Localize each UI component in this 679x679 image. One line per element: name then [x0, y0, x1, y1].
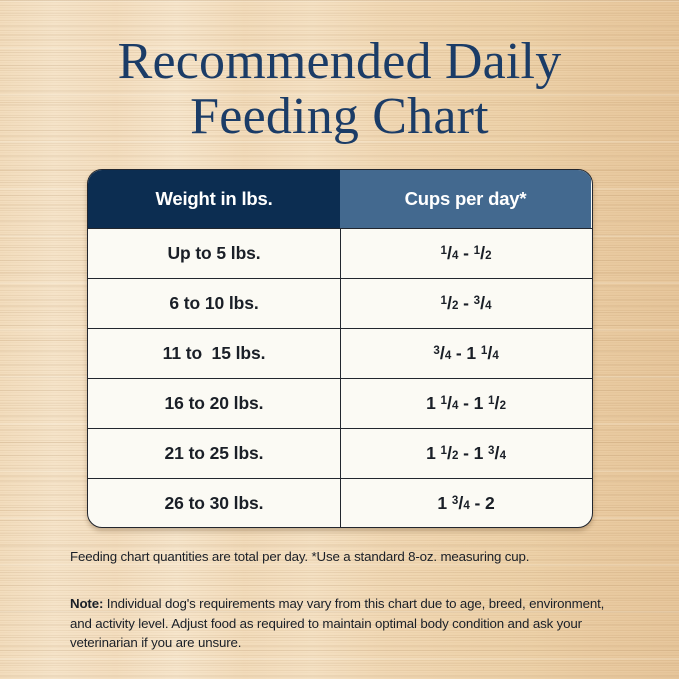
table-row: 21 to 25 lbs.1 1/2 - 1 3/4: [88, 428, 592, 478]
note-text: Note: Individual dog's requirements may …: [70, 594, 618, 653]
table-row: 26 to 30 lbs.1 3/4 - 2: [88, 478, 592, 528]
cell-cups: 1 3/4 - 2: [340, 479, 591, 528]
amount-text: 1: [426, 393, 440, 414]
fraction-denominator: 4: [492, 350, 498, 362]
fraction-numerator: 1: [441, 445, 447, 457]
cell-weight: 6 to 10 lbs.: [88, 279, 340, 328]
fraction-numerator: 3: [433, 345, 439, 357]
fraction-denominator: 2: [500, 400, 506, 412]
fraction: 3/4: [474, 293, 492, 314]
note-body: Individual dog's requirements may vary f…: [70, 596, 604, 650]
amount-text: -: [458, 243, 473, 264]
cell-weight: 11 to 15 lbs.: [88, 329, 340, 378]
amount-text: 1: [426, 443, 440, 464]
cell-cups: 1/2 - 3/4: [340, 279, 591, 328]
fraction-numerator: 1: [481, 345, 487, 357]
page-title-line-2: Feeding Chart: [0, 89, 679, 144]
table-row: 11 to 15 lbs.3/4 - 1 1/4: [88, 328, 592, 378]
fraction-denominator: 2: [452, 300, 458, 312]
fraction-denominator: 2: [485, 250, 491, 262]
cell-weight: 26 to 30 lbs.: [88, 479, 340, 528]
amount-text: - 1: [458, 393, 488, 414]
cell-cups: 3/4 - 1 1/4: [340, 329, 591, 378]
table-row: 6 to 10 lbs.1/2 - 3/4: [88, 278, 592, 328]
fraction-denominator: 2: [452, 450, 458, 462]
table-body: Up to 5 lbs.1/4 - 1/26 to 10 lbs.1/2 - 3…: [88, 228, 592, 528]
cell-cups: 1 1/4 - 1 1/2: [340, 379, 591, 428]
cups-amount: 1 1/2 - 1 3/4: [426, 443, 506, 464]
amount-text: - 1: [458, 443, 488, 464]
cell-cups: 1 1/2 - 1 3/4: [340, 429, 591, 478]
feeding-chart-table: Weight in lbs. Cups per day* Up to 5 lbs…: [87, 169, 593, 528]
page-title-line-1: Recommended Daily: [0, 34, 679, 89]
amount-text: -: [458, 293, 473, 314]
cups-amount: 1/2 - 3/4: [441, 293, 492, 314]
fraction-numerator: 1: [441, 395, 447, 407]
fraction: 1/4: [441, 243, 459, 264]
fraction-numerator: 1: [441, 295, 447, 307]
fraction-numerator: 3: [488, 445, 494, 457]
fraction-numerator: 3: [452, 495, 458, 507]
fraction-denominator: 4: [485, 300, 491, 312]
table-row: 16 to 20 lbs.1 1/4 - 1 1/2: [88, 378, 592, 428]
fraction: 1/4: [481, 343, 499, 364]
page-title: Recommended Daily Feeding Chart: [0, 34, 679, 144]
fraction-denominator: 4: [452, 400, 458, 412]
cell-weight: Up to 5 lbs.: [88, 229, 340, 278]
fraction-numerator: 1: [441, 245, 447, 257]
cell-weight: 21 to 25 lbs.: [88, 429, 340, 478]
cups-amount: 1 1/4 - 1 1/2: [426, 393, 506, 414]
amount-text: 1: [437, 493, 451, 514]
cups-amount: 1/4 - 1/2: [441, 243, 492, 264]
fraction: 1/2: [441, 443, 459, 464]
fraction: 1/2: [474, 243, 492, 264]
fraction-numerator: 3: [474, 295, 480, 307]
fraction: 3/4: [488, 443, 506, 464]
fraction: 3/4: [452, 493, 470, 514]
column-header-cups: Cups per day*: [340, 170, 591, 228]
fraction-denominator: 4: [445, 350, 451, 362]
fraction: 1/4: [441, 393, 459, 414]
table-row: Up to 5 lbs.1/4 - 1/2: [88, 228, 592, 278]
fraction-denominator: 4: [463, 500, 469, 512]
fraction: 3/4: [433, 343, 451, 364]
fraction-denominator: 4: [452, 250, 458, 262]
fraction-numerator: 1: [474, 245, 480, 257]
cell-weight: 16 to 20 lbs.: [88, 379, 340, 428]
fraction: 1/2: [441, 293, 459, 314]
cell-cups: 1/4 - 1/2: [340, 229, 591, 278]
fraction-denominator: 4: [500, 450, 506, 462]
cups-amount: 1 3/4 - 2: [437, 493, 494, 514]
note-label: Note:: [70, 596, 103, 611]
column-header-weight: Weight in lbs.: [88, 170, 340, 228]
table-header-row: Weight in lbs. Cups per day*: [88, 170, 592, 228]
amount-text: - 1: [451, 343, 481, 364]
fraction: 1/2: [488, 393, 506, 414]
footnote-text: Feeding chart quantities are total per d…: [70, 547, 615, 566]
fraction-numerator: 1: [488, 395, 494, 407]
cups-amount: 3/4 - 1 1/4: [433, 343, 498, 364]
amount-text: - 2: [470, 493, 495, 514]
